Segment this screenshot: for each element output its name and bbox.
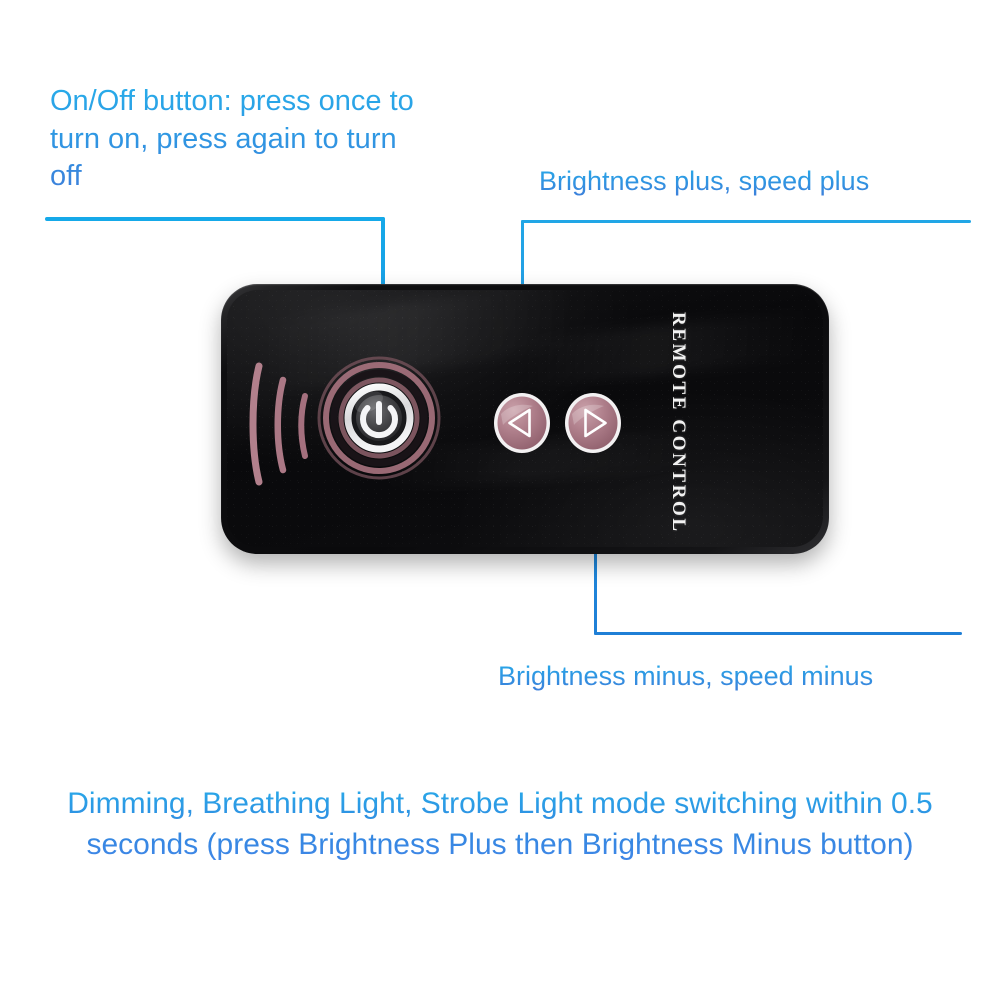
callout-power-text: On/Off button: press once to turn on, pr… [50, 83, 420, 196]
leader-line-power-horizontal [45, 217, 385, 221]
callout-modes-text: Dimming, Breathing Light, Strobe Light m… [40, 783, 960, 866]
remote-control-device: REMOTE CONTROL [221, 284, 829, 554]
power-button[interactable] [314, 352, 444, 484]
brightness-minus-button[interactable] [564, 392, 622, 454]
brightness-plus-button[interactable] [493, 392, 551, 454]
leader-line-plus-horizontal [521, 220, 971, 223]
callout-brightness-plus-text: Brightness plus, speed plus [539, 165, 989, 197]
ir-signal-waves-icon [249, 358, 323, 490]
callout-brightness-minus-text: Brightness minus, speed minus [498, 660, 998, 692]
infographic-stage: On/Off button: press once to turn on, pr… [0, 0, 1000, 1000]
remote-front-face: REMOTE CONTROL [227, 290, 823, 547]
remote-control-label: REMOTE CONTROL [661, 312, 695, 532]
leader-line-minus-horizontal [594, 632, 962, 635]
